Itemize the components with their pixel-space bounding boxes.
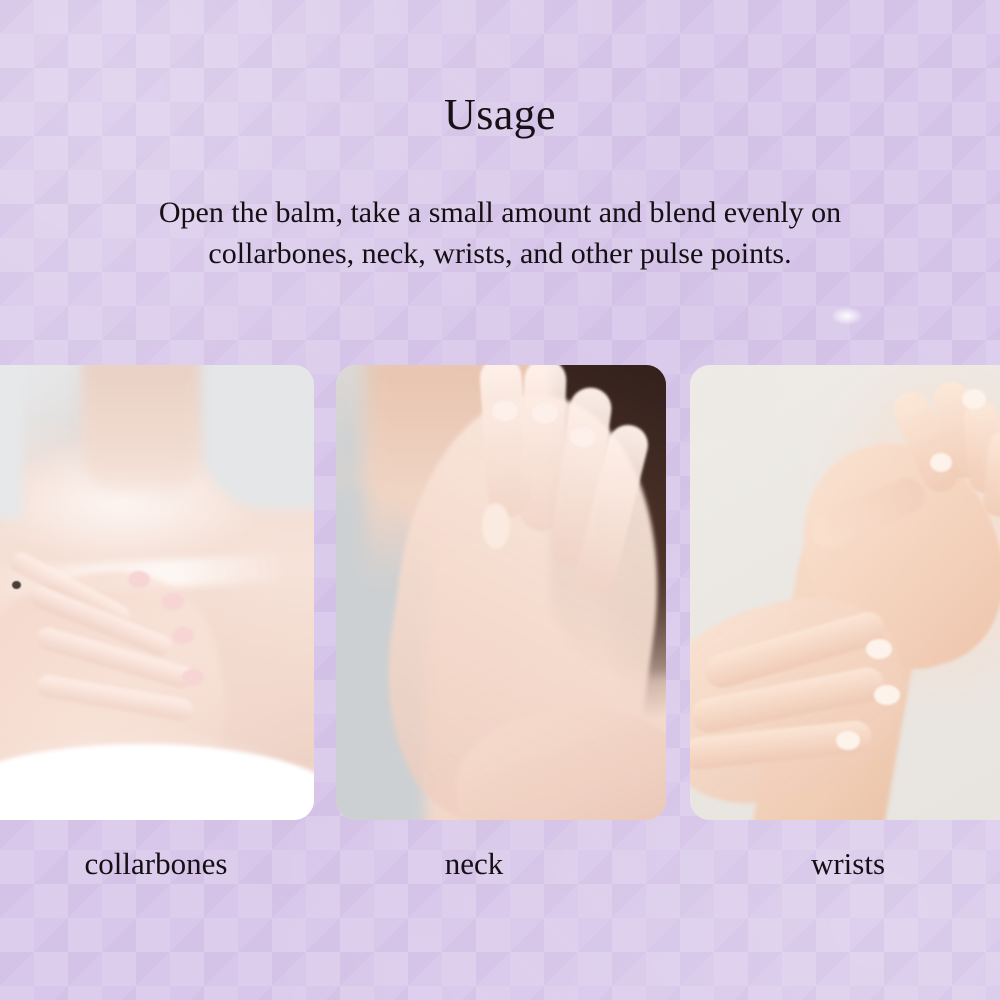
fingernail-shape xyxy=(874,685,900,705)
collarbones-photo xyxy=(0,365,314,820)
usage-description-line-1: Open the balm, take a small amount and b… xyxy=(60,192,940,233)
skin-mole xyxy=(12,581,21,589)
wrists-photo xyxy=(690,365,1000,820)
photo-backdrop-left xyxy=(0,365,22,519)
fingernail-shape xyxy=(570,427,596,447)
photo-backdrop-right xyxy=(200,365,314,509)
fingernail-shape xyxy=(128,571,150,588)
usage-image-wrists xyxy=(690,365,1000,820)
fingernail-shape xyxy=(172,627,194,644)
neck-photo xyxy=(336,365,666,820)
usage-image-neck xyxy=(336,365,666,820)
thumbnail-shape xyxy=(482,503,510,549)
fingernail-shape xyxy=(162,593,184,610)
fingernail-shape xyxy=(930,453,952,472)
fingernail-shape xyxy=(962,389,986,409)
usage-description: Open the balm, take a small amount and b… xyxy=(60,192,940,274)
fingernail-shape xyxy=(836,731,860,750)
usage-header: Usage Open the balm, take a small amount… xyxy=(0,0,1000,340)
page-title: Usage xyxy=(0,88,1000,142)
caption-collarbones: collarbones xyxy=(26,840,286,888)
fingernail-shape xyxy=(532,403,558,423)
caption-neck: neck xyxy=(344,840,604,888)
fingernail-shape xyxy=(866,639,892,659)
neck-shape xyxy=(82,365,200,505)
fingernail-shape xyxy=(492,401,518,421)
fingernail-shape xyxy=(182,669,204,686)
usage-description-line-2: collarbones, neck, wrists, and other pul… xyxy=(60,233,940,274)
white-garment xyxy=(0,744,314,820)
usage-image-collarbones xyxy=(0,365,314,820)
caption-wrists: wrists xyxy=(718,840,978,888)
